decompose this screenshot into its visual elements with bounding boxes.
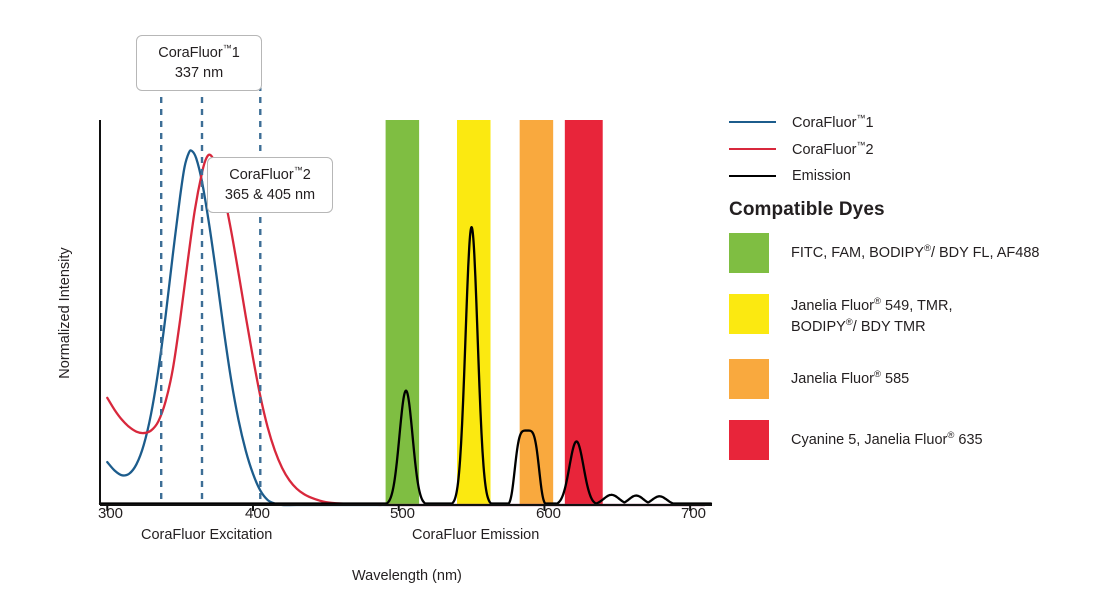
dye-label-jf585: Janelia Fluor® 585	[791, 359, 909, 389]
dye-item-cy5: Cyanine 5, Janelia Fluor® 635	[729, 420, 1104, 460]
xtick-700: 700	[681, 505, 706, 522]
callout-corafluor1: CoraFluor™1 337 nm	[136, 35, 262, 91]
legend-line-icon-emission	[729, 175, 776, 177]
legend-item-corafluor1: CoraFluor™1	[729, 108, 1101, 135]
color-swatch-red	[729, 420, 769, 460]
excitation-region-label: CoraFluor Excitation	[141, 527, 272, 543]
xtick-300: 300	[98, 505, 123, 522]
compatible-dyes-heading: Compatible Dyes	[729, 199, 885, 221]
callout2-line2: 365 & 405 nm	[220, 185, 320, 205]
emission-region-label: CoraFluor Emission	[412, 527, 539, 543]
dye-item-jf549: Janelia Fluor® 549, TMR, BODIPY®/ BDY TM…	[729, 294, 1104, 338]
trademark-symbol: ™	[294, 165, 303, 175]
series-legend: CoraFluor™1 CoraFluor™2 Emission	[729, 108, 1101, 189]
xtick-500: 500	[390, 505, 415, 522]
emission-band-3	[565, 120, 603, 505]
emission-band-1	[457, 120, 491, 505]
registered-symbol: ®	[924, 243, 931, 254]
trademark-symbol: ™	[223, 43, 232, 53]
callout1-line1: CoraFluor™1	[149, 42, 249, 63]
legend-label-corafluor1: CoraFluor™1	[792, 113, 874, 131]
callout1-line2: 337 nm	[149, 63, 249, 83]
registered-symbol: ®	[846, 317, 853, 328]
callout-corafluor2: CoraFluor™2 365 & 405 nm	[207, 157, 333, 213]
dye-label-cy5: Cyanine 5, Janelia Fluor® 635	[791, 420, 983, 450]
legend-item-corafluor2: CoraFluor™2	[729, 135, 1101, 162]
dye-label-jf549-line2: BODIPY®/ BDY TMR	[791, 316, 952, 337]
legend-line-icon-corafluor1	[729, 121, 776, 123]
dye-label-jf549: Janelia Fluor® 549, TMR, BODIPY®/ BDY TM…	[791, 294, 952, 338]
callout2-line1: CoraFluor™2	[220, 164, 320, 185]
legend-item-emission: Emission	[729, 162, 1101, 189]
xtick-600: 600	[536, 505, 561, 522]
x-axis-title: Wavelength (nm)	[352, 568, 462, 584]
xtick-400: 400	[245, 505, 270, 522]
dye-label-fitc: FITC, FAM, BODIPY®/ BDY FL, AF488	[791, 233, 1039, 263]
color-swatch-green	[729, 233, 769, 273]
registered-symbol: ®	[874, 296, 881, 307]
legend-label-corafluor2: CoraFluor™2	[792, 140, 874, 158]
compatible-dyes-list: FITC, FAM, BODIPY®/ BDY FL, AF488 Janeli…	[729, 233, 1104, 481]
color-swatch-yellow	[729, 294, 769, 334]
chart-figure: CoraFluor™1 337 nm CoraFluor™2 365 & 405…	[0, 0, 1110, 612]
y-axis-title: Normalized Intensity	[57, 223, 73, 403]
registered-symbol: ®	[874, 369, 881, 380]
legend-label-emission: Emission	[792, 168, 851, 184]
dye-item-fitc: FITC, FAM, BODIPY®/ BDY FL, AF488	[729, 233, 1104, 273]
dye-item-jf585: Janelia Fluor® 585	[729, 359, 1104, 399]
dye-label-jf549-line1: Janelia Fluor® 549, TMR,	[791, 295, 952, 316]
color-swatch-orange	[729, 359, 769, 399]
legend-line-icon-corafluor2	[729, 148, 776, 150]
